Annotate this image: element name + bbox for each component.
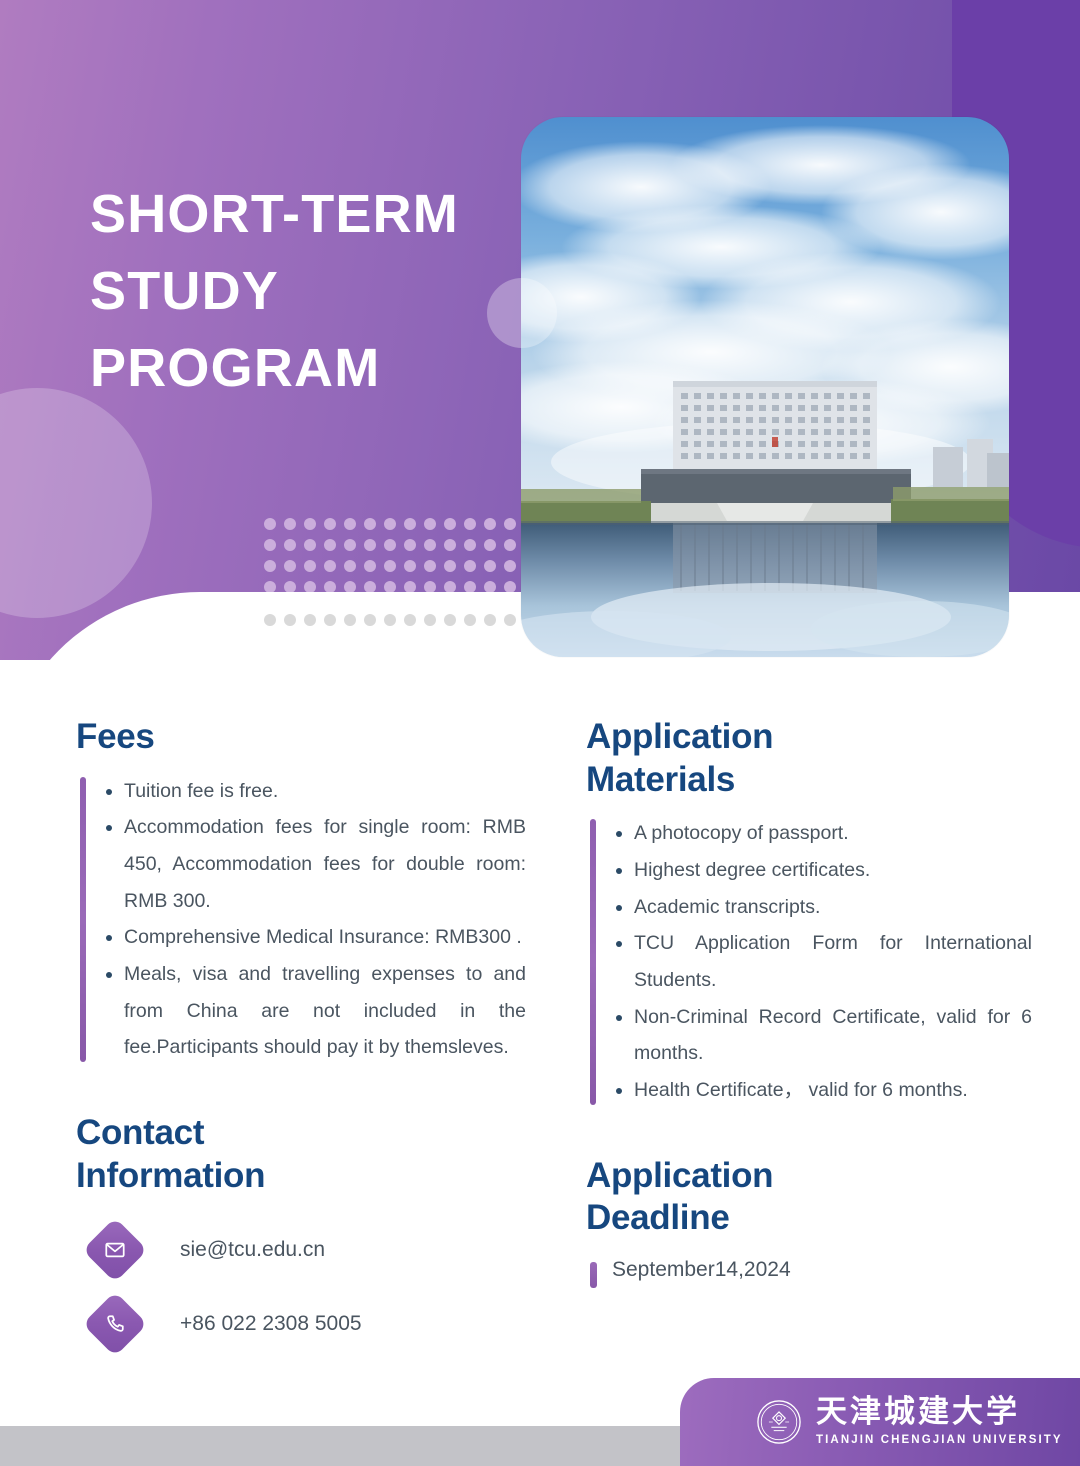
poster-canvas: SHORT-TERM STUDY PROGRAM Fees Tuition fe… (0, 0, 1080, 1466)
list-item: Non-Criminal Record Certificate, valid f… (612, 999, 1032, 1072)
deadline-heading-line-2: Deadline (586, 1197, 1032, 1240)
contact-details: sie@tcu.edu.cn +86 022 2308 5005 (76, 1219, 526, 1355)
fees-list: Tuition fee is free. Accommodation fees … (102, 773, 526, 1066)
contact-heading-line-1: Contact (76, 1112, 526, 1155)
list-item: Meals, visa and travelling expenses to a… (102, 956, 526, 1066)
left-column: Fees Tuition fee is free. Accommodation … (76, 716, 526, 1367)
list-item: A photocopy of passport. (612, 815, 1032, 852)
contact-phone-text: +86 022 2308 5005 (180, 1312, 362, 1336)
hero-photo (521, 117, 1009, 657)
university-seal-icon (756, 1399, 802, 1445)
application-deadline-heading: Application Deadline (586, 1155, 1032, 1240)
contact-email-row[interactable]: sie@tcu.edu.cn (84, 1219, 526, 1281)
deadline-heading-line-1: Application (586, 1155, 1032, 1198)
list-item: Accommodation fees for single room: RMB … (102, 809, 526, 919)
deadline-date: September14,2024 (612, 1258, 791, 1282)
list-item: Academic transcripts. (612, 889, 1032, 926)
deadline-value-row: September14,2024 (586, 1258, 1032, 1282)
list-item: Comprehensive Medical Insurance: RMB300 … (102, 919, 526, 956)
right-column: Application Materials A photocopy of pas… (586, 716, 1032, 1282)
materials-heading-line-1: Application (586, 716, 1032, 759)
contact-heading-line-2: Information (76, 1155, 526, 1198)
title-line-3: PROGRAM (90, 330, 520, 407)
materials-accent-bar (590, 819, 596, 1104)
decorative-dot-grid-on-white (264, 614, 522, 710)
footer-branding-bar: 天津城建大学 TIANJIN CHENGJIAN UNIVERSITY (680, 1378, 1080, 1466)
contact-phone-row[interactable]: +86 022 2308 5005 (84, 1293, 526, 1355)
materials-heading-line-2: Materials (586, 759, 1032, 802)
list-item: TCU Application Form for International S… (612, 925, 1032, 998)
phone-icon (82, 1292, 147, 1357)
title-line-1: SHORT-TERM (90, 176, 520, 253)
list-item: Tuition fee is free. (102, 773, 526, 810)
university-name-cn: 天津城建大学 (816, 1397, 1063, 1428)
fees-heading: Fees (76, 716, 526, 759)
materials-list-block: A photocopy of passport. Highest degree … (586, 815, 1032, 1108)
university-name-en: TIANJIN CHENGJIAN UNIVERSITY (816, 1435, 1063, 1447)
fees-accent-bar (80, 777, 86, 1062)
fees-list-block: Tuition fee is free. Accommodation fees … (76, 773, 526, 1066)
envelope-icon (82, 1218, 147, 1283)
contact-heading: Contact Information (76, 1112, 526, 1197)
deadline-accent-bar (590, 1262, 597, 1288)
title-line-2: STUDY (90, 253, 520, 330)
university-name-block: 天津城建大学 TIANJIN CHENGJIAN UNIVERSITY (816, 1397, 1063, 1447)
materials-list: A photocopy of passport. Highest degree … (612, 815, 1032, 1108)
contact-email-text: sie@tcu.edu.cn (180, 1238, 325, 1262)
fees-heading-line: Fees (76, 716, 526, 759)
list-item: Highest degree certificates. (612, 852, 1032, 889)
list-item: Health Certificate， valid for 6 months. (612, 1072, 1032, 1109)
university-logo: 天津城建大学 TIANJIN CHENGJIAN UNIVERSITY (756, 1397, 1063, 1447)
poster-title: SHORT-TERM STUDY PROGRAM (90, 176, 520, 408)
application-materials-heading: Application Materials (586, 716, 1032, 801)
